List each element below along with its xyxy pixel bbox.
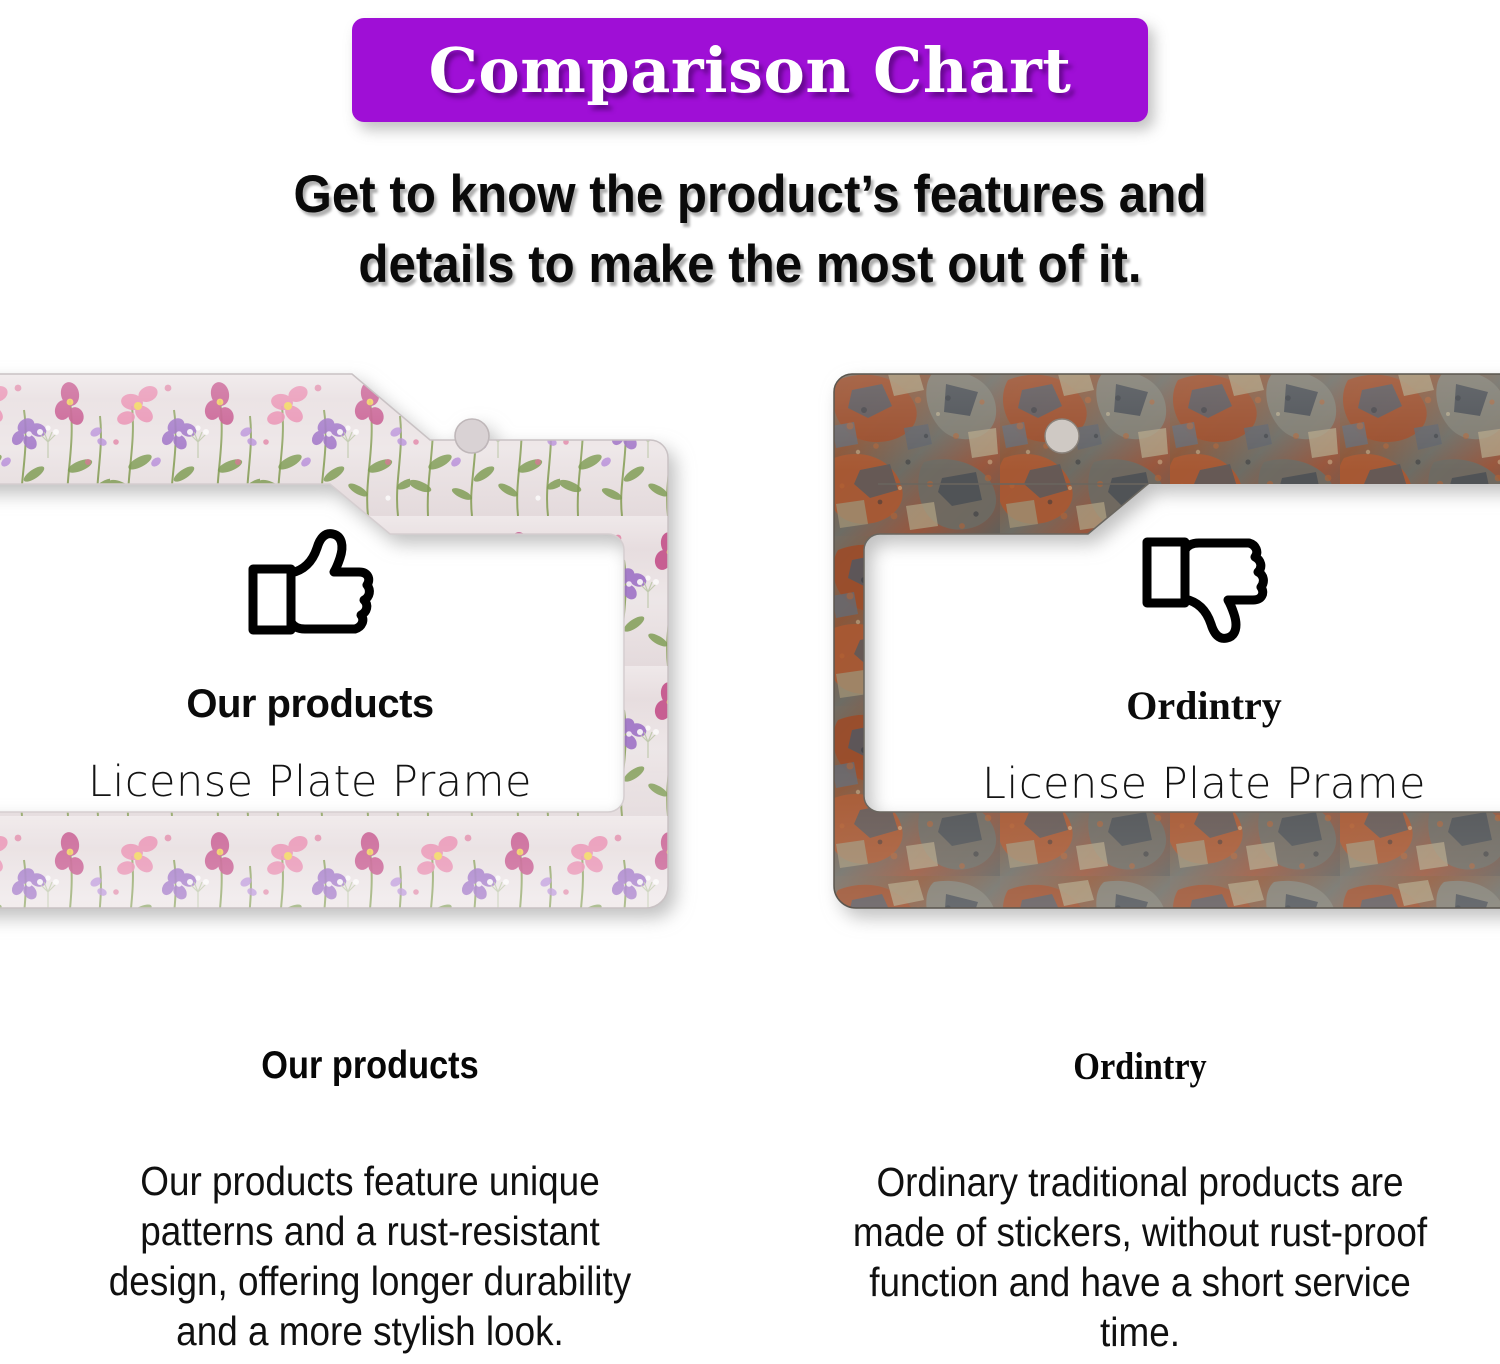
our-products-description-column: Our products Our products feature unique… — [20, 1020, 720, 1356]
screw-hole — [1045, 419, 1079, 453]
left-column-body: Our products feature unique patterns and… — [82, 1156, 658, 1356]
product-comparison-frames: Our products License Plate Prame — [0, 366, 1500, 966]
floral-frame-graphic — [0, 366, 708, 956]
subtitle-line-2: details to make the most out of it. — [53, 230, 1448, 300]
page-title: Comparison Chart — [429, 34, 1072, 107]
our-product-license-plate-frame: Our products License Plate Prame — [0, 366, 708, 956]
comparison-chart-title-banner: Comparison Chart — [352, 18, 1148, 122]
comparison-description-row: Our products Our products feature unique… — [0, 1020, 1500, 1364]
right-column-body: Ordinary traditional products are made o… — [852, 1157, 1428, 1357]
ordinary-description-column: Ordintry Ordinary traditional products a… — [790, 1020, 1490, 1357]
rusted-frame-graphic — [830, 366, 1500, 956]
subtitle: Get to know the product’s features and d… — [53, 160, 1448, 300]
subtitle-line-1: Get to know the product’s features and — [53, 160, 1448, 230]
left-column-heading: Our products — [62, 1044, 678, 1088]
ordinary-product-license-plate-frame: Ordintry License Plate Prame — [830, 366, 1500, 956]
right-column-heading: Ordintry — [832, 1044, 1448, 1089]
screw-hole — [455, 419, 489, 453]
